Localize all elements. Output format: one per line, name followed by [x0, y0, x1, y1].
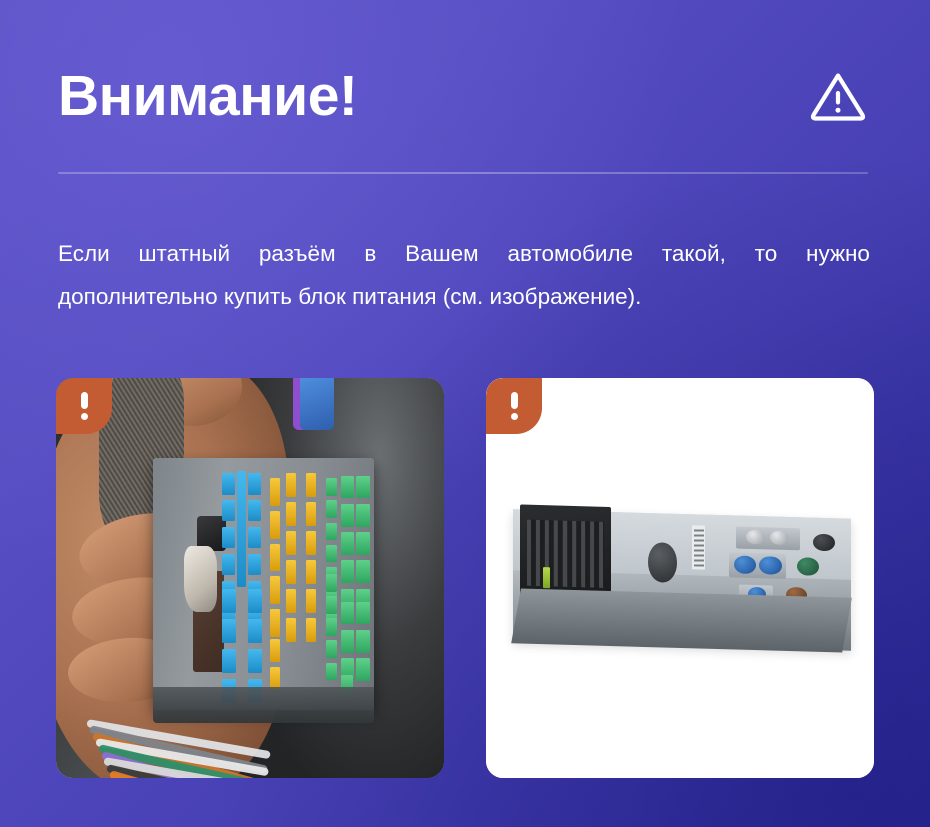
connector-pin	[248, 500, 261, 521]
exclamation-badge-icon	[56, 378, 112, 434]
body-word: штатный	[139, 232, 231, 275]
connector-pin	[222, 527, 235, 548]
connector-pin	[248, 589, 262, 613]
body-word: разъём	[259, 232, 336, 275]
connector-pin	[306, 589, 316, 613]
connector-pin	[222, 500, 235, 521]
connector-pin	[270, 576, 280, 604]
page-header: Внимание!	[58, 48, 872, 144]
psu-round-port	[648, 542, 677, 582]
connector-pin	[306, 502, 316, 526]
header-divider	[58, 172, 868, 174]
connector-pin	[341, 602, 354, 625]
exclamation-glyph	[511, 392, 518, 420]
connector-pin	[326, 574, 337, 592]
connector-pin	[326, 640, 337, 658]
body-word: такой,	[662, 232, 726, 275]
connector-pin	[286, 531, 296, 555]
label-barcode	[694, 528, 704, 566]
psu-chassis	[513, 509, 851, 650]
connector-pin	[326, 500, 337, 518]
connector-pin	[326, 618, 337, 636]
connector-pin	[248, 619, 262, 643]
connector-pin	[356, 504, 369, 527]
connector-pin	[222, 554, 235, 575]
connector-pin	[326, 478, 337, 496]
psu-main-connector	[520, 504, 611, 602]
connector-pin	[356, 630, 369, 653]
connector-pin	[270, 511, 280, 539]
body-line-2: дополнительно купить блок питания (см. и…	[58, 275, 870, 318]
connector-pin	[270, 544, 280, 572]
body-copy: Если штатный разъём в Вашем автомобиле т…	[58, 232, 870, 318]
connector-pin	[286, 560, 296, 584]
body-word: в	[364, 232, 376, 275]
warning-triangle-icon	[810, 71, 866, 121]
body-line-1: Если штатный разъём в Вашем автомобиле т…	[58, 232, 870, 275]
connector-pin	[222, 679, 236, 703]
connector-slot-grid	[527, 520, 604, 589]
connector-pin	[222, 589, 236, 613]
connector-pin	[248, 554, 261, 575]
connector-pin	[326, 663, 337, 681]
connector-pin	[356, 658, 369, 681]
connector-pin	[326, 545, 337, 563]
connector-pin	[286, 589, 296, 613]
body-word: автомобиле	[507, 232, 633, 275]
connector-housing	[153, 458, 374, 710]
connector-pin	[341, 675, 353, 695]
fakra-blue-2	[760, 556, 782, 575]
psu-side-label	[692, 525, 706, 570]
power-supply-photo	[486, 378, 874, 778]
connector-pin	[270, 609, 280, 637]
connector-pin	[341, 630, 354, 653]
connector-pin	[248, 473, 261, 494]
connector-pin	[356, 602, 369, 625]
exclamation-badge-icon	[486, 378, 542, 434]
connector-pin	[286, 473, 296, 497]
connector-pin	[306, 560, 316, 584]
body-word: нужно	[806, 232, 870, 275]
connector-pin	[270, 667, 280, 690]
body-word: Вашем	[405, 232, 479, 275]
photo-card-row	[56, 378, 874, 778]
connector-pin	[270, 639, 280, 662]
connector-pin	[341, 476, 354, 499]
connector-pin	[326, 523, 337, 541]
car-connector-photo-card[interactable]	[56, 378, 444, 778]
connector-pin	[341, 560, 354, 583]
connector-pin	[306, 618, 316, 642]
connector-pin	[248, 649, 262, 673]
power-supply-photo-card[interactable]	[486, 378, 874, 778]
connector-pin	[326, 596, 337, 614]
white-locking-clip	[184, 546, 217, 612]
connector-pin	[306, 531, 316, 555]
body-word: Если	[58, 232, 110, 275]
connector-pin	[286, 502, 296, 526]
connector-pin	[356, 560, 369, 583]
fakra-green	[797, 557, 819, 576]
connector-pin	[222, 649, 236, 673]
green-coding-key	[544, 568, 550, 589]
connector-pin	[270, 478, 280, 506]
connector-pin	[248, 679, 262, 703]
psu-front-face	[512, 589, 853, 653]
connector-pin	[248, 527, 261, 548]
connector-pin	[306, 473, 316, 497]
blue-cap-detail	[300, 378, 334, 430]
connector-pin	[341, 504, 354, 527]
connector-pin	[341, 532, 354, 555]
connector-pin	[356, 532, 369, 555]
connector-pin	[356, 476, 369, 499]
car-connector-photo	[56, 378, 444, 778]
body-word: то	[755, 232, 778, 275]
connector-pin	[237, 471, 246, 587]
connector-pin	[222, 619, 236, 643]
exclamation-glyph	[81, 392, 88, 420]
wire-bundle	[95, 706, 289, 778]
connector-pin	[286, 618, 296, 642]
connector-pin	[222, 473, 235, 494]
page-title: Внимание!	[58, 68, 357, 125]
